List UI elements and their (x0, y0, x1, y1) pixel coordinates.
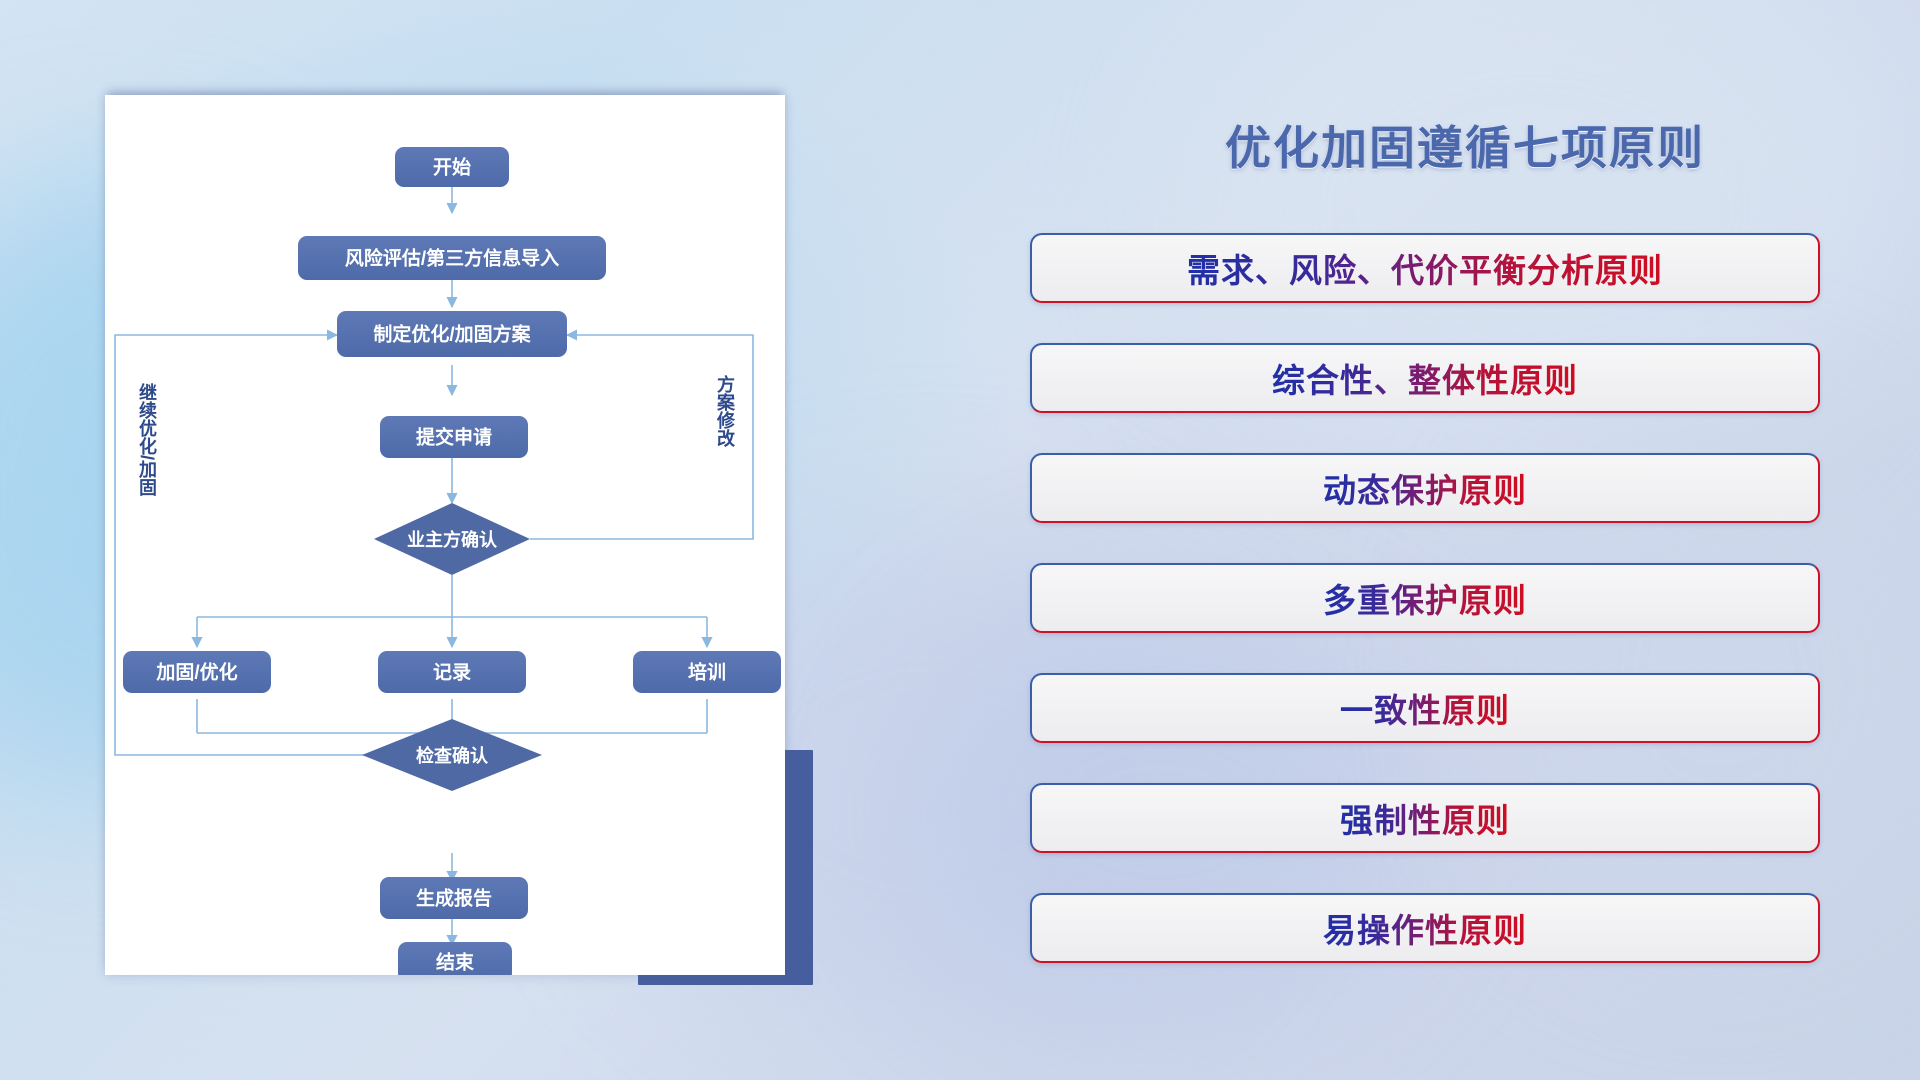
flow-node-label: 记录 (433, 662, 471, 684)
flow-node-plan[interactable]: 制定优化/加固方案 (337, 311, 567, 357)
flow-node-label: 制定优化/加固方案 (373, 323, 531, 346)
flow-node-owner-confirm[interactable]: 业主方确认 (374, 503, 530, 575)
flow-node-check-confirm[interactable]: 检查确认 (362, 719, 542, 791)
principle-item[interactable]: 需求、风险、代价平衡分析原则 (1030, 233, 1820, 303)
principles-list: 需求、风险、代价平衡分析原则 综合性、整体性原则 动态保护原则 多重保护原则 一… (1030, 233, 1820, 963)
principle-label: 强制性原则 (1340, 794, 1510, 842)
flow-node-label: 业主方确认 (407, 529, 498, 550)
principle-label: 多重保护原则 (1323, 574, 1527, 622)
page-title: 优化加固遵循七项原则 (1010, 112, 1920, 178)
flow-node-label: 培训 (688, 661, 726, 684)
flowchart-card: 开始 风险评估/第三方信息导入 制定优化/加固方案 提交申请 业主方确认 (105, 95, 785, 975)
principle-label: 易操作性原则 (1323, 904, 1527, 952)
flow-node-label: 生成报告 (416, 887, 492, 910)
principle-item[interactable]: 多重保护原则 (1030, 563, 1820, 633)
flow-node-report[interactable]: 生成报告 (380, 877, 528, 919)
principle-label: 综合性、整体性原则 (1272, 354, 1578, 402)
principle-item[interactable]: 一致性原则 (1030, 673, 1820, 743)
flow-node-label: 风险评估/第三方信息导入 (345, 247, 559, 270)
flow-node-end[interactable]: 结束 (398, 942, 512, 975)
principle-item[interactable]: 强制性原则 (1030, 783, 1820, 853)
flow-node-training[interactable]: 培训 (633, 651, 781, 693)
principle-item[interactable]: 易操作性原则 (1030, 893, 1820, 963)
principle-label: 动态保护原则 (1323, 464, 1527, 512)
principle-item[interactable]: 综合性、整体性原则 (1030, 343, 1820, 413)
edge-label-left-loop: 继续优化/加固 (137, 382, 158, 497)
flow-node-assess[interactable]: 风险评估/第三方信息导入 (298, 236, 606, 280)
principles-panel: 优化加固遵循七项原则 需求、风险、代价平衡分析原则 综合性、整体性原则 动态保护… (1010, 0, 1920, 1080)
flow-node-label: 开始 (433, 156, 471, 179)
principle-label: 一致性原则 (1340, 684, 1510, 732)
flow-node-label: 加固/优化 (155, 661, 237, 684)
edge-label-right-loop: 方案修改 (715, 374, 736, 448)
principle-label: 需求、风险、代价平衡分析原则 (1187, 244, 1663, 292)
flow-node-label: 结束 (436, 951, 475, 974)
flow-node-record[interactable]: 记录 (378, 651, 526, 693)
flow-node-label: 提交申请 (416, 426, 492, 449)
principle-item[interactable]: 动态保护原则 (1030, 453, 1820, 523)
flow-node-label: 检查确认 (416, 745, 489, 766)
flow-node-submit[interactable]: 提交申请 (380, 416, 528, 458)
flow-node-reinforce[interactable]: 加固/优化 (123, 651, 271, 693)
flowchart-panel: 开始 风险评估/第三方信息导入 制定优化/加固方案 提交申请 业主方确认 (0, 0, 830, 1080)
flow-node-start[interactable]: 开始 (395, 147, 509, 187)
flowchart-diagram: 开始 风险评估/第三方信息导入 制定优化/加固方案 提交申请 业主方确认 (105, 95, 785, 975)
